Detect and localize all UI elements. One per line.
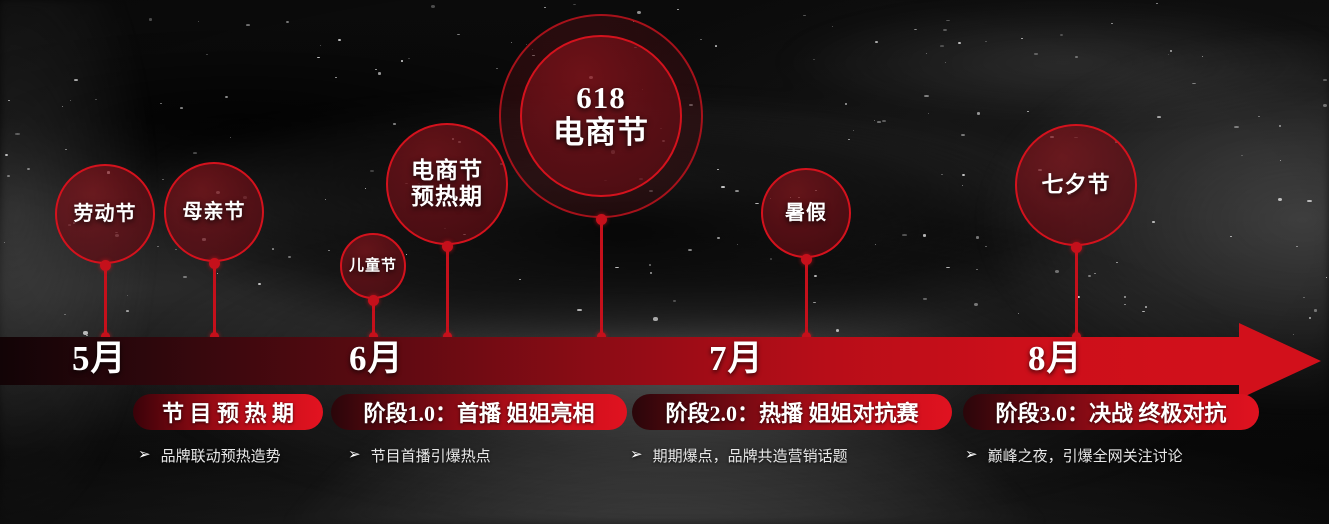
phase-2-pill-label: 阶段2.0：热播 姐姐对抗赛 (665, 396, 918, 428)
ecom-warmup-connector-top-dot (442, 241, 453, 252)
festival-618-connector-top-dot (596, 214, 607, 225)
phase-warmup-pill-label: 节 目 预 热 期 (162, 396, 294, 428)
summer-break-connector-top-dot (801, 254, 812, 265)
qixi-festival-label: 七夕节 (1041, 173, 1110, 198)
timeline-month-3: 7月 (709, 337, 764, 385)
phase-2-bullet-text: 期期爆点，品牌共造营销话题 (653, 445, 848, 466)
ecom-warmup-bubble[interactable]: 电商节预热期 (386, 123, 508, 245)
phase-warmup-bullet: ➢品牌联动预热造势 (138, 445, 281, 466)
labor-day-label: 劳动节 (74, 203, 137, 225)
qixi-festival-connector (1075, 246, 1078, 338)
bullet-chevron-icon: ➢ (630, 448, 643, 463)
mothers-day-connector-top-dot (209, 258, 220, 269)
summer-break-label: 暑假 (785, 202, 827, 224)
phase-3-bullet: ➢巅峰之夜，引爆全网关注讨论 (965, 445, 1183, 466)
phase-2-pill[interactable]: 阶段2.0：热播 姐姐对抗赛 (632, 394, 952, 430)
phase-warmup-pill[interactable]: 节 目 预 热 期 (133, 394, 323, 430)
bullet-chevron-icon: ➢ (138, 448, 151, 463)
phase-warmup-bullet-text: 品牌联动预热造势 (161, 445, 281, 466)
summer-break-connector (805, 258, 808, 338)
timeline-arrow (0, 337, 1329, 385)
mothers-day-bubble[interactable]: 母亲节 (164, 162, 264, 262)
childrens-day-label: 儿童节 (349, 258, 397, 275)
phase-2-bullet: ➢期期爆点，品牌共造营销话题 (630, 445, 848, 466)
qixi-festival-connector-top-dot (1071, 242, 1082, 253)
qixi-festival-bubble[interactable]: 七夕节 (1015, 124, 1137, 246)
mothers-day-label: 母亲节 (183, 201, 246, 223)
timeline-month-2: 6月 (349, 337, 404, 385)
bullet-chevron-icon: ➢ (965, 448, 978, 463)
phase-3-bullet-text: 巅峰之夜，引爆全网关注讨论 (988, 445, 1183, 466)
phase-1-bullet: ➢节目首播引爆热点 (348, 445, 491, 466)
festival-618-connector (600, 218, 603, 338)
phase-1-bullet-text: 节目首播引爆热点 (371, 445, 491, 466)
ecom-warmup-connector (446, 245, 449, 338)
festival-618-label: 618电商节 (553, 81, 649, 150)
timeline-month-4: 8月 (1028, 337, 1083, 385)
labor-day-connector-top-dot (100, 260, 111, 271)
marketing-timeline-slide: 劳动节母亲节儿童节电商节预热期618电商节暑假七夕节 5月6月7月8月 节 目 … (0, 0, 1329, 524)
timeline-month-1: 5月 (72, 337, 127, 385)
phase-1-pill[interactable]: 阶段1.0：首播 姐姐亮相 (331, 394, 627, 430)
phase-3-pill[interactable]: 阶段3.0：决战 终极对抗 (963, 394, 1259, 430)
summer-break-bubble[interactable]: 暑假 (761, 168, 851, 258)
timeline-arrow-head-icon (1239, 323, 1321, 399)
mothers-day-connector (213, 262, 216, 338)
festival-618-bubble[interactable]: 618电商节 (520, 35, 682, 197)
bullet-chevron-icon: ➢ (348, 448, 361, 463)
phase-1-pill-label: 阶段1.0：首播 姐姐亮相 (363, 396, 594, 428)
labor-day-bubble[interactable]: 劳动节 (55, 164, 155, 264)
labor-day-connector (104, 264, 107, 338)
childrens-day-connector-top-dot (368, 295, 379, 306)
ecom-warmup-label: 电商节预热期 (411, 158, 483, 210)
phase-3-pill-label: 阶段3.0：决战 终极对抗 (995, 396, 1226, 428)
childrens-day-bubble[interactable]: 儿童节 (340, 233, 406, 299)
